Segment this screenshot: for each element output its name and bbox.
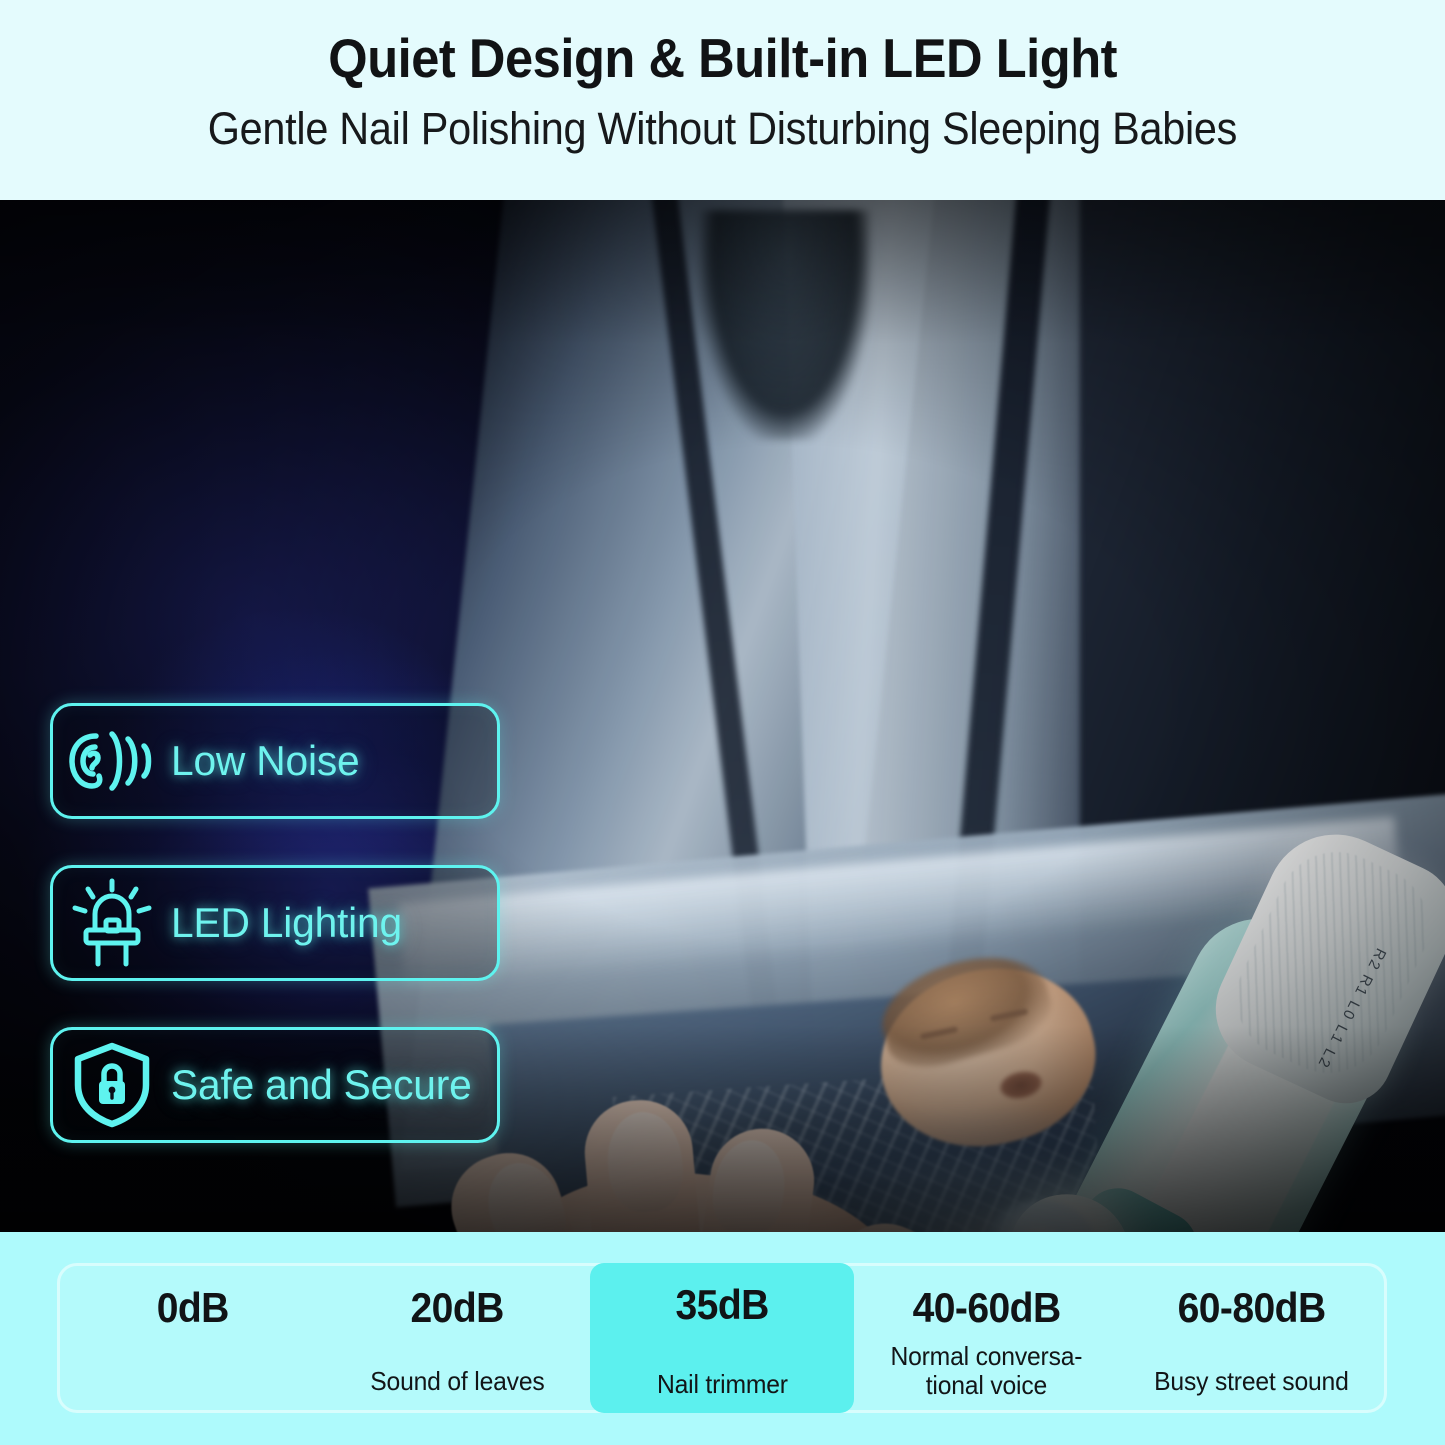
decibel-scale-panel: 0dB 20dB Sound of leaves 35dB Nail trimm…	[57, 1263, 1387, 1413]
hero-photo: R2 R1 L0 L1 L2 Low Noise	[0, 200, 1445, 1232]
page-title: Quiet Design & Built-in LED Light	[328, 30, 1117, 88]
db-cell-2-nail-trimmer[interactable]: 35dB Nail trimmer	[590, 1263, 855, 1413]
ear-soundwave-icon	[53, 706, 171, 816]
page-subtitle: Gentle Nail Polishing Without Disturbing…	[208, 105, 1237, 152]
db-description: Busy street sound	[1126, 1367, 1378, 1396]
header-banner: Quiet Design & Built-in LED Light Gentle…	[0, 0, 1445, 200]
badge-label: Low Noise	[171, 737, 359, 785]
led-bulb-icon	[53, 868, 171, 978]
feature-badge-list: Low Noise	[50, 703, 502, 1143]
db-cell-3[interactable]: 40-60dB Normal conversa-tional voice	[854, 1266, 1119, 1410]
db-description: Nail trimmer	[596, 1370, 848, 1399]
badge-label: Safe and Secure	[171, 1061, 472, 1109]
db-cell-0[interactable]: 0dB	[60, 1266, 325, 1410]
product-feature-page: Quiet Design & Built-in LED Light Gentle…	[0, 0, 1445, 1445]
db-value: 60-80dB	[1178, 1287, 1326, 1329]
badge-led-lighting[interactable]: LED Lighting	[50, 865, 500, 981]
db-value: 35dB	[675, 1284, 768, 1326]
db-value: 40-60dB	[913, 1287, 1061, 1329]
canopy-top-knot	[700, 210, 870, 440]
badge-safe-and-secure[interactable]: Safe and Secure	[50, 1027, 500, 1143]
db-description: Normal conversa-tional voice	[861, 1342, 1113, 1400]
db-description: Sound of leaves	[331, 1367, 583, 1396]
db-value: 0dB	[156, 1287, 228, 1329]
decibel-comparison-band: 0dB 20dB Sound of leaves 35dB Nail trimm…	[0, 1232, 1445, 1445]
badge-label: LED Lighting	[171, 899, 402, 947]
badge-low-noise[interactable]: Low Noise	[50, 703, 500, 819]
db-cell-4[interactable]: 60-80dB Busy street sound	[1119, 1266, 1384, 1410]
db-value: 20dB	[411, 1287, 504, 1329]
db-cell-1[interactable]: 20dB Sound of leaves	[325, 1266, 590, 1410]
shield-lock-icon	[53, 1030, 171, 1140]
nail-trimmer-device: R2 R1 L0 L1 L2	[1040, 800, 1445, 1232]
